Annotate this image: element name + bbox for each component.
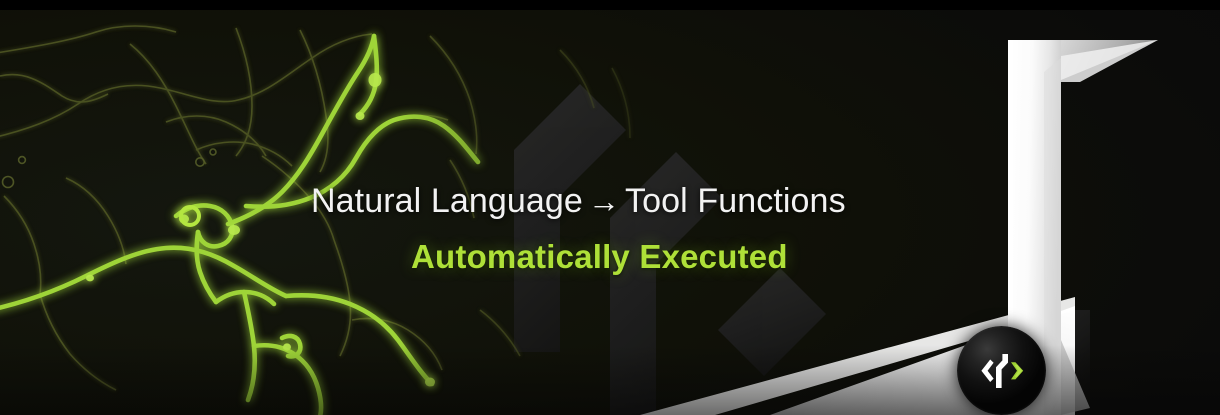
white-flow-ribbon [620, 10, 1220, 415]
letterbox-bar-top [0, 0, 1220, 10]
banner-stage: Natural Language→Tool Functions Automati… [0, 10, 1220, 415]
code-brackets-logo [977, 350, 1027, 392]
logo-badge[interactable] [957, 326, 1046, 415]
promo-banner: Natural Language→Tool Functions Automati… [0, 0, 1220, 415]
